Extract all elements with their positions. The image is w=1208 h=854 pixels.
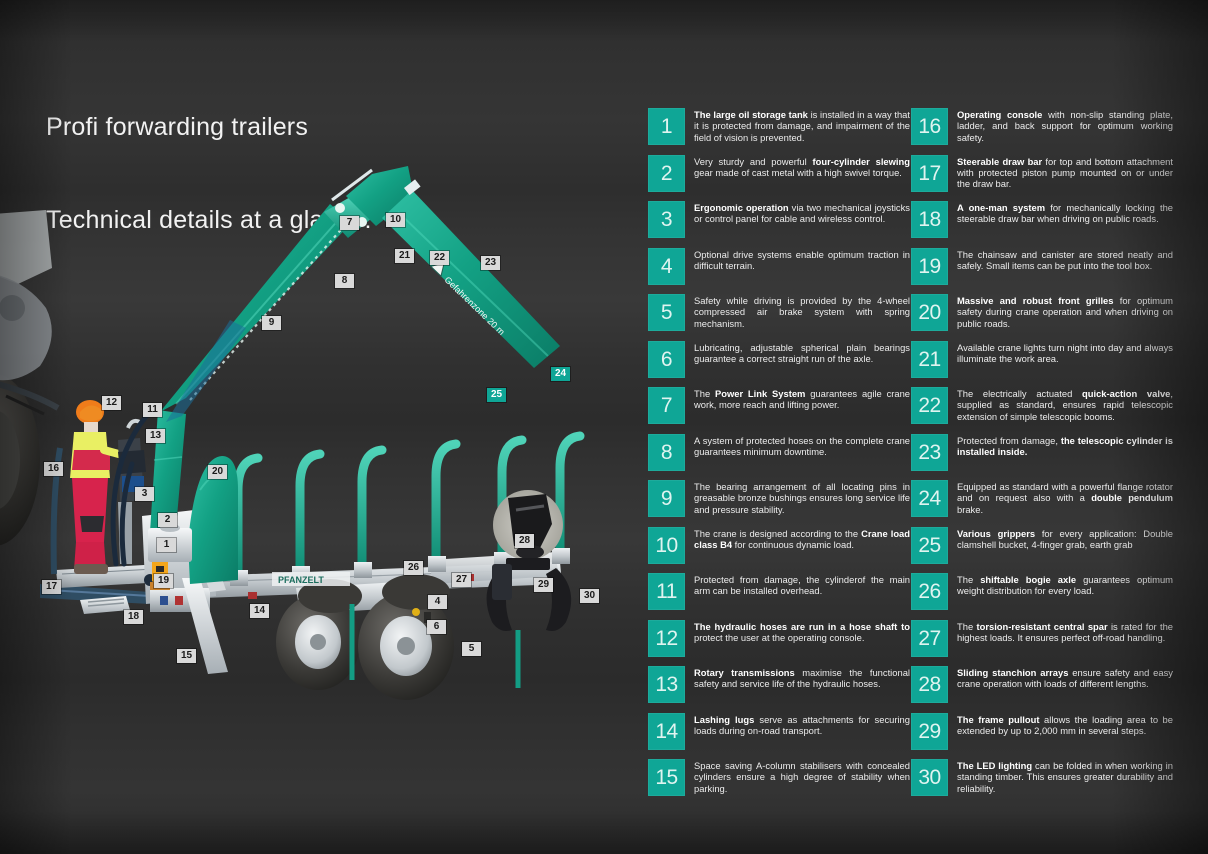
- legend-item-9[interactable]: 9The bearing arrangement of all locating…: [648, 480, 910, 517]
- legend-badge-1: 1: [648, 108, 685, 145]
- callout-chip-24[interactable]: 24: [551, 367, 570, 381]
- legend-badge-15: 15: [648, 759, 685, 796]
- legend-badge-12: 12: [648, 620, 685, 657]
- legend-item-8[interactable]: 8A system of protected hoses on the comp…: [648, 434, 910, 471]
- legend-badge-21: 21: [911, 341, 948, 378]
- callout-chip-29[interactable]: 29: [534, 578, 553, 592]
- legend-item-28[interactable]: 28Sliding stanchion arrays ensure safety…: [911, 666, 1173, 703]
- legend-item-1[interactable]: 1The large oil storage tank is installed…: [648, 108, 910, 145]
- legend-text-14: Lashing lugs serve as attachments for se…: [694, 713, 910, 737]
- legend-text-20: Massive and robust front grilles for opt…: [957, 294, 1173, 329]
- svg-text:PFANZELT: PFANZELT: [278, 575, 324, 585]
- legend-item-3[interactable]: 3Ergonomic operation via two mechanical …: [648, 201, 910, 238]
- legend-text-30: The LED lighting can be folded in when w…: [957, 759, 1173, 794]
- legend-text-8: A system of protected hoses on the compl…: [694, 434, 910, 458]
- legend-item-16[interactable]: 16Operating console with non-slip standi…: [911, 108, 1173, 145]
- callout-chip-10[interactable]: 10: [386, 213, 405, 227]
- legend-badge-14: 14: [648, 713, 685, 750]
- legend-text-27: The torsion-resistant central spar is ra…: [957, 620, 1173, 644]
- legend-text-1: The large oil storage tank is installed …: [694, 108, 910, 143]
- legend-item-12[interactable]: 12The hydraulic hoses are run in a hose …: [648, 620, 910, 657]
- tractor-rear: [0, 210, 58, 546]
- legend-badge-23: 23: [911, 434, 948, 471]
- callout-chip-18[interactable]: 18: [124, 610, 143, 624]
- legend-text-16: Operating console with non-slip standing…: [957, 108, 1173, 143]
- callout-chip-11[interactable]: 11: [143, 403, 162, 417]
- legend-text-11: Protected from damage, the cylinderof th…: [694, 573, 910, 597]
- legend-item-22[interactable]: 22The electrically actuated quick-action…: [911, 387, 1173, 424]
- legend-text-15: Space saving A-column stabilisers with c…: [694, 759, 910, 794]
- legend-item-29[interactable]: 29The frame pullout allows the loading a…: [911, 713, 1173, 750]
- legend-item-18[interactable]: 18A one-man system for mechanically lock…: [911, 201, 1173, 238]
- legend-badge-28: 28: [911, 666, 948, 703]
- legend-item-24[interactable]: 24Equipped as standard with a powerful f…: [911, 480, 1173, 517]
- legend-item-4[interactable]: 4Optional drive systems enable optimum t…: [648, 248, 910, 285]
- legend-badge-30: 30: [911, 759, 948, 796]
- legend-item-10[interactable]: 10The crane is designed according to the…: [648, 527, 910, 564]
- legend-text-2: Very sturdy and powerful four-cylinder s…: [694, 155, 910, 179]
- legend-text-3: Ergonomic operation via two mechanical j…: [694, 201, 910, 225]
- callout-chip-27[interactable]: 27: [452, 573, 471, 587]
- title-line-1: Profi forwarding trailers: [46, 112, 372, 143]
- callout-chip-17[interactable]: 17: [42, 580, 61, 594]
- legend-badge-11: 11: [648, 573, 685, 610]
- callout-chip-12[interactable]: 12: [102, 396, 121, 410]
- legend-badge-9: 9: [648, 480, 685, 517]
- legend-badge-8: 8: [648, 434, 685, 471]
- legend-text-23: Protected from damage, the telescopic cy…: [957, 434, 1173, 458]
- legend-item-27[interactable]: 27The torsion-resistant central spar is …: [911, 620, 1173, 657]
- legend-text-25: Various grippers for every application: …: [957, 527, 1173, 551]
- legend-text-18: A one-man system for mechanically lockin…: [957, 201, 1173, 225]
- legend-text-17: Steerable draw bar for top and bottom at…: [957, 155, 1173, 190]
- legend-badge-29: 29: [911, 713, 948, 750]
- product-illustration: Gefahrenzone 20 m: [0, 160, 640, 700]
- legend-badge-2: 2: [648, 155, 685, 192]
- legend-badge-16: 16: [911, 108, 948, 145]
- callout-chip-5[interactable]: 5: [462, 642, 481, 656]
- callout-chip-8[interactable]: 8: [335, 274, 354, 288]
- legend-item-17[interactable]: 17Steerable draw bar for top and bottom …: [911, 155, 1173, 192]
- callout-chip-16[interactable]: 16: [44, 462, 63, 476]
- callout-chip-2[interactable]: 2: [158, 513, 177, 527]
- legend-item-2[interactable]: 2Very sturdy and powerful four-cylinder …: [648, 155, 910, 192]
- legend-text-22: The electrically actuated quick-action v…: [957, 387, 1173, 422]
- callout-chip-13[interactable]: 13: [146, 429, 165, 443]
- legend-badge-4: 4: [648, 248, 685, 285]
- brand-plate: PFANZELT: [272, 572, 350, 586]
- legend-badge-20: 20: [911, 294, 948, 331]
- legend-text-26: The shiftable bogie axle guarantees opti…: [957, 573, 1173, 597]
- legend-badge-3: 3: [648, 201, 685, 238]
- callout-chip-23[interactable]: 23: [481, 256, 500, 270]
- legend-text-24: Equipped as standard with a powerful fla…: [957, 480, 1173, 515]
- callout-chip-9[interactable]: 9: [262, 316, 281, 330]
- callout-chip-21[interactable]: 21: [395, 249, 414, 263]
- legend-item-20[interactable]: 20Massive and robust front grilles for o…: [911, 294, 1173, 331]
- legend-text-10: The crane is designed according to the C…: [694, 527, 910, 551]
- legend-item-11[interactable]: 11Protected from damage, the cylinderof …: [648, 573, 910, 610]
- legend-item-21[interactable]: 21Available crane lights turn night into…: [911, 341, 1173, 378]
- callout-chip-19[interactable]: 19: [154, 574, 173, 588]
- callout-chip-4[interactable]: 4: [428, 595, 447, 609]
- legend-column-right: 16Operating console with non-slip standi…: [911, 108, 1173, 806]
- legend-item-13[interactable]: 13Rotary transmissions maximise the func…: [648, 666, 910, 703]
- legend-text-13: Rotary transmissions maximise the functi…: [694, 666, 910, 690]
- legend-item-14[interactable]: 14Lashing lugs serve as attachments for …: [648, 713, 910, 750]
- legend-badge-13: 13: [648, 666, 685, 703]
- callout-chip-14[interactable]: 14: [250, 604, 269, 618]
- callout-chip-3[interactable]: 3: [135, 487, 154, 501]
- callout-chip-26[interactable]: 26: [404, 561, 423, 575]
- callout-chip-6[interactable]: 6: [427, 620, 446, 634]
- legend-text-28: Sliding stanchion arrays ensure safety a…: [957, 666, 1173, 690]
- legend-badge-6: 6: [648, 341, 685, 378]
- legend-badge-18: 18: [911, 201, 948, 238]
- forwarding-trailer-graphic: Gefahrenzone 20 m: [0, 160, 640, 700]
- legend-badge-26: 26: [911, 573, 948, 610]
- legend-badge-19: 19: [911, 248, 948, 285]
- legend-item-25[interactable]: 25Various grippers for every application…: [911, 527, 1173, 564]
- legend-text-29: The frame pullout allows the loading are…: [957, 713, 1173, 737]
- legend-item-23[interactable]: 23Protected from damage, the telescopic …: [911, 434, 1173, 471]
- callout-chip-7[interactable]: 7: [340, 216, 359, 230]
- legend-text-12: The hydraulic hoses are run in a hose sh…: [694, 620, 910, 644]
- legend-badge-5: 5: [648, 294, 685, 331]
- legend-text-5: Safety while driving is provided by the …: [694, 294, 910, 329]
- legend-badge-25: 25: [911, 527, 948, 564]
- legend-item-26[interactable]: 26The shiftable bogie axle guarantees op…: [911, 573, 1173, 610]
- legend-item-5[interactable]: 5Safety while driving is provided by the…: [648, 294, 910, 331]
- callout-chip-25[interactable]: 25: [487, 388, 506, 402]
- legend-text-4: Optional drive systems enable optimum tr…: [694, 248, 910, 272]
- legend-badge-17: 17: [911, 155, 948, 192]
- legend-text-19: The chainsaw and canister are stored nea…: [957, 248, 1173, 272]
- legend-badge-7: 7: [648, 387, 685, 424]
- legend-text-21: Available crane lights turn night into d…: [957, 341, 1173, 365]
- legend-item-7[interactable]: 7The Power Link System guarantees agile …: [648, 387, 910, 424]
- legend-item-15[interactable]: 15Space saving A-column stabilisers with…: [648, 759, 910, 796]
- legend-badge-10: 10: [648, 527, 685, 564]
- legend-badge-27: 27: [911, 620, 948, 657]
- callout-chip-30[interactable]: 30: [580, 589, 599, 603]
- legend-badge-22: 22: [911, 387, 948, 424]
- legend-text-6: Lubricating, adjustable spherical plain …: [694, 341, 910, 365]
- poster-canvas: Profi forwarding trailers Technical deta…: [0, 0, 1208, 854]
- legend-badge-24: 24: [911, 480, 948, 517]
- legend-column-left: 1The large oil storage tank is installed…: [648, 108, 910, 806]
- callout-chip-22[interactable]: 22: [430, 251, 449, 265]
- legend-text-7: The Power Link System guarantees agile c…: [694, 387, 910, 411]
- callout-chip-15[interactable]: 15: [177, 649, 196, 663]
- legend-item-6[interactable]: 6Lubricating, adjustable spherical plain…: [648, 341, 910, 378]
- callout-chip-20[interactable]: 20: [208, 465, 227, 479]
- legend-text-9: The bearing arrangement of all locating …: [694, 480, 910, 515]
- legend-item-30[interactable]: 30The LED lighting can be folded in when…: [911, 759, 1173, 796]
- callout-chip-28[interactable]: 28: [515, 534, 534, 548]
- callout-chip-1[interactable]: 1: [157, 538, 176, 552]
- legend-item-19[interactable]: 19The chainsaw and canister are stored n…: [911, 248, 1173, 285]
- bogie-axle-wheels: [276, 574, 454, 700]
